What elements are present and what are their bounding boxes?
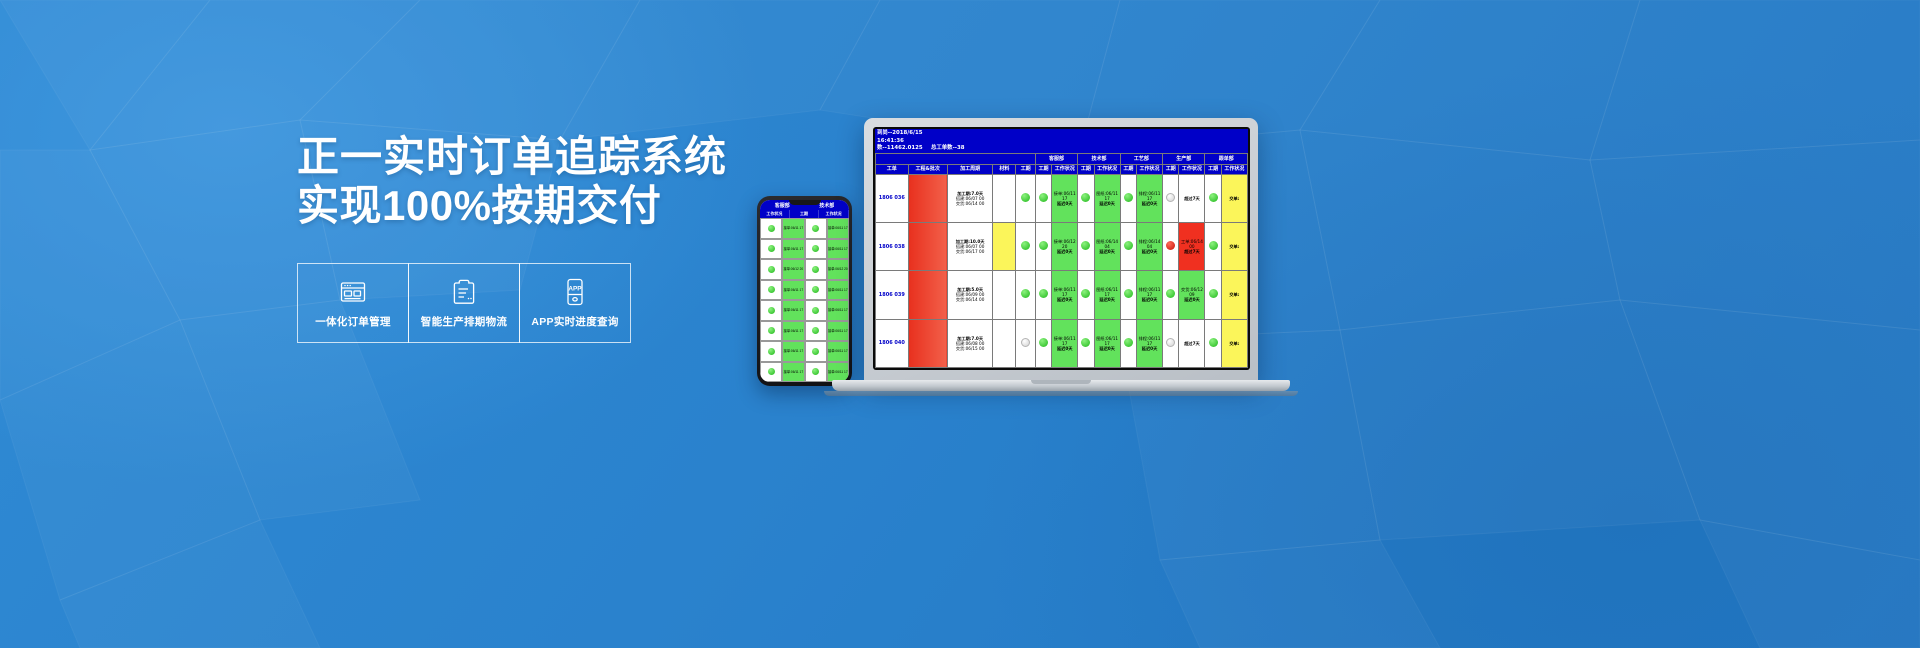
dashboard-status-bar: 到尚--2018/6/15 16:41:36 数--11462.0125 总工单… <box>875 129 1248 153</box>
phone-cell: 接单:06/11 17 <box>827 280 849 301</box>
cell-dept-duration-0 <box>1035 174 1051 222</box>
cell-order-number: 1806 039 <box>876 271 909 319</box>
cell-project <box>908 319 947 367</box>
cell-order-number: 1806 036 <box>876 174 909 222</box>
phone-subcol-1: 工期 <box>790 210 820 218</box>
cell-dept-duration-4 <box>1205 174 1221 222</box>
status-total-orders: 总工单数--38 <box>931 145 965 153</box>
cell-cycle: 加工期:7.0天搭建:06/08 00交货:06/15 00 <box>947 319 993 367</box>
cell-dept-status-2: 排程:06/11 17延迟0天 <box>1136 319 1162 367</box>
dept-header-spacer <box>876 153 1036 164</box>
status-timestamp: 到尚--2018/6/15 16:41:36 <box>877 130 931 145</box>
cell-dept-status-4: 交单: <box>1221 271 1247 319</box>
col-header-4-0: 工期 <box>1205 164 1221 174</box>
cell-dept-status-3: 工单:06/14 00超过7天 <box>1179 222 1205 270</box>
status-dot <box>1039 338 1048 347</box>
phone-screen[interactable]: 客服部 技术部 工作状况 工期 工作状况 接单:06/11 17接单:06/11… <box>760 200 849 382</box>
phone-cell: 接单:06/11 17 <box>782 218 804 239</box>
phone-subcol-2: 工作状况 <box>819 210 849 218</box>
cell-dept-duration-2 <box>1120 271 1136 319</box>
col-header-2: 加工周期 <box>947 164 993 174</box>
phone-cell <box>805 321 827 342</box>
status-dot <box>1081 241 1090 250</box>
phone-cell: 接单:06/11 17 <box>782 280 804 301</box>
dept-header-customer-service: 客服部 <box>1035 153 1077 164</box>
laptop-foot <box>824 391 1298 396</box>
phone-status-column <box>760 218 782 382</box>
cell-dept-status-3: 交货:06/12 09延迟0天 <box>1179 271 1205 319</box>
cell-dept-duration-4 <box>1205 319 1221 367</box>
mobile-app-icon: APP <box>565 277 585 307</box>
col-header-3-1: 工作状况 <box>1179 164 1205 174</box>
laptop-screen[interactable]: 到尚--2018/6/15 16:41:36 数--11462.0125 总工单… <box>875 129 1248 368</box>
dept-header-process: 工艺部 <box>1120 153 1162 164</box>
table-body: 1806 036加工期:7.0天搭建:06/07 00交货:06/14 00接单… <box>876 174 1248 368</box>
order-tracking-table: 客服部 技术部 工艺部 生产部 跟单部 工单工程&批次加工周期材料工期工期工作状… <box>875 153 1248 369</box>
cell-material <box>993 271 1016 319</box>
status-count: 数--11462.0125 <box>877 145 931 153</box>
status-dot <box>812 225 819 232</box>
phone-cell <box>760 362 782 383</box>
col-header-1-1: 工作状况 <box>1094 164 1120 174</box>
status-dot <box>768 368 775 375</box>
cell-dept-duration-0 <box>1035 319 1051 367</box>
cell-dept-duration-3 <box>1163 271 1179 319</box>
status-dot <box>768 327 775 334</box>
cell-dept-duration-0 <box>1035 222 1051 270</box>
column-header-row: 工单工程&批次加工周期材料工期工期工作状况工期工作状况工期工作状况工期工作状况工… <box>876 164 1248 174</box>
dashboard: 到尚--2018/6/15 16:41:36 数--11462.0125 总工单… <box>875 129 1248 368</box>
col-header-0-1: 工作状况 <box>1052 164 1078 174</box>
cell-dept-duration-1 <box>1078 222 1094 270</box>
cell-dept-status-0: 接单:06/11 17延迟0天 <box>1052 271 1078 319</box>
status-dot <box>1166 193 1175 202</box>
phone-cell: 接单:06/11 17 <box>827 341 849 362</box>
phone-cell <box>760 300 782 321</box>
svg-text:APP: APP <box>568 286 582 293</box>
status-dot <box>768 348 775 355</box>
status-dot <box>768 245 775 252</box>
feature-label: 一体化订单管理 <box>315 314 391 329</box>
status-dot <box>1166 241 1175 250</box>
cell-duration <box>1016 174 1036 222</box>
table-head: 客服部 技术部 工艺部 生产部 跟单部 工单工程&批次加工周期材料工期工期工作状… <box>876 153 1248 174</box>
phone-cell <box>805 341 827 362</box>
laptop-mockup: 到尚--2018/6/15 16:41:36 数--11462.0125 总工单… <box>864 118 1324 418</box>
cell-dept-duration-2 <box>1120 222 1136 270</box>
cell-dept-status-1: 图纸:06/11 17延迟0天 <box>1094 319 1120 367</box>
id-card-icon <box>340 277 366 307</box>
status-dot <box>1166 289 1175 298</box>
status-dot <box>1021 193 1030 202</box>
col-header-4: 工期 <box>1016 164 1036 174</box>
cell-dept-status-2: 排程:06/14 04延迟0天 <box>1136 222 1162 270</box>
phone-cell: 接单:06/11 17 <box>782 362 804 383</box>
phone-detail-column: 接单:06/11 17接单:06/11 17接单:06/12 20接单:06/1… <box>782 218 804 382</box>
status-dot <box>1124 289 1133 298</box>
cell-dept-duration-3 <box>1163 174 1179 222</box>
phone-cell <box>760 259 782 280</box>
status-dot <box>812 348 819 355</box>
phone-cell: 接单:06/11 17 <box>782 300 804 321</box>
status-dot <box>1039 241 1048 250</box>
cell-order-number: 1806 040 <box>876 319 909 367</box>
cell-dept-status-4: 交单: <box>1221 174 1247 222</box>
status-dot <box>812 245 819 252</box>
phone-cell <box>760 321 782 342</box>
phone-subcol-0: 工作状况 <box>760 210 790 218</box>
cell-dept-status-3: 超过7天 <box>1179 174 1205 222</box>
col-header-1: 工程&批次 <box>908 164 947 174</box>
phone-cell: 接单:06/11 17 <box>827 218 849 239</box>
feature-box-group: 一体化订单管理 智能生产排期物流 APP APP实时进度查询 <box>297 263 630 343</box>
cell-dept-duration-4 <box>1205 222 1221 270</box>
phone-cell <box>760 341 782 362</box>
phone-cell: 接单:06/11 17 <box>782 239 804 260</box>
phone-cell <box>760 280 782 301</box>
status-dot <box>768 286 775 293</box>
cell-dept-status-3: 超过7天 <box>1179 319 1205 367</box>
cell-dept-duration-2 <box>1120 174 1136 222</box>
clipboard-list-icon <box>452 277 476 307</box>
phone-cell: 接单:06/11 17 <box>827 300 849 321</box>
cell-material <box>993 174 1016 222</box>
dashboard-table-area: 客服部 技术部 工艺部 生产部 跟单部 工单工程&批次加工周期材料工期工期工作状… <box>875 153 1248 369</box>
col-header-4-1: 工作状况 <box>1221 164 1247 174</box>
phone-cell <box>805 239 827 260</box>
cell-dept-status-4: 交单: <box>1221 319 1247 367</box>
dept-header-row: 客服部 技术部 工艺部 生产部 跟单部 <box>876 153 1248 164</box>
table-row[interactable]: 1806 038加工期:10.0天搭建:06/07 00交货:06/17 00接… <box>876 222 1248 270</box>
status-dot <box>1124 338 1133 347</box>
status-dot <box>1124 193 1133 202</box>
feature-label: APP实时进度查询 <box>531 314 618 329</box>
status-dot <box>768 266 775 273</box>
phone-cell <box>805 218 827 239</box>
col-header-3-0: 工期 <box>1163 164 1179 174</box>
phone-cell: 接单:06/11 17 <box>827 239 849 260</box>
dept-header-production: 生产部 <box>1163 153 1205 164</box>
phone-cell: 接单:06/11 17 <box>827 362 849 383</box>
cell-dept-duration-4 <box>1205 271 1221 319</box>
status-dot <box>812 327 819 334</box>
phone-subheader: 工作状况 工期 工作状况 <box>760 210 849 218</box>
phone-cell: 接单:06/11 17 <box>827 321 849 342</box>
phone-status-column-2 <box>805 218 827 382</box>
status-dot <box>768 307 775 314</box>
phone-cell: 接单:06/11 17 <box>782 341 804 362</box>
cell-duration <box>1016 271 1036 319</box>
laptop-base <box>832 380 1290 391</box>
cell-dept-status-0: 接单:06/11 17延迟0天 <box>1052 174 1078 222</box>
phone-dashboard: 客服部 技术部 工作状况 工期 工作状况 接单:06/11 17接单:06/11… <box>760 200 849 382</box>
phone-cell: 接单:06/11 17 <box>782 321 804 342</box>
phone-mockup: 客服部 技术部 工作状况 工期 工作状况 接单:06/11 17接单:06/11… <box>757 196 852 386</box>
cell-dept-status-1: 图纸:06/11 17延迟0天 <box>1094 174 1120 222</box>
cell-dept-duration-3 <box>1163 222 1179 270</box>
headline-line-1: 正一实时订单追踪系统 <box>297 132 717 181</box>
cell-cycle: 加工期:7.0天搭建:06/07 00交货:06/14 00 <box>947 174 993 222</box>
col-header-0-0: 工期 <box>1035 164 1051 174</box>
feature-box-order-management[interactable]: 一体化订单管理 <box>297 263 409 343</box>
cell-dept-status-4: 交单: <box>1221 222 1247 270</box>
phone-cell <box>805 259 827 280</box>
status-dot <box>812 286 819 293</box>
phone-cell <box>805 362 827 383</box>
cell-dept-duration-1 <box>1078 174 1094 222</box>
cell-cycle: 加工期:10.0天搭建:06/07 00交货:06/17 00 <box>947 222 993 270</box>
status-dot <box>1021 338 1030 347</box>
dept-header-followup: 跟单部 <box>1205 153 1248 164</box>
cell-material <box>993 319 1016 367</box>
laptop-bezel: 到尚--2018/6/15 16:41:36 数--11462.0125 总工单… <box>873 127 1250 370</box>
phone-cell <box>805 280 827 301</box>
cell-duration <box>1016 222 1036 270</box>
col-header-3: 材料 <box>993 164 1016 174</box>
phone-row-area: 接单:06/11 17接单:06/11 17接单:06/12 20接单:06/1… <box>760 218 849 382</box>
phone-cell <box>760 218 782 239</box>
phone-cell <box>760 239 782 260</box>
cell-dept-status-0: 接单:06/12 20延迟0天 <box>1052 222 1078 270</box>
table-row[interactable]: 1806 040加工期:7.0天搭建:06/08 00交货:06/15 00接单… <box>876 319 1248 367</box>
col-header-2-1: 工作状况 <box>1136 164 1162 174</box>
status-dot <box>812 307 819 314</box>
table-row[interactable]: 1806 039加工期:5.0天搭建:06/09 00交货:06/14 00接单… <box>876 271 1248 319</box>
cell-order-number: 1806 038 <box>876 222 909 270</box>
cell-duration <box>1016 319 1036 367</box>
cell-dept-status-2: 排程:06/11 17延迟0天 <box>1136 271 1162 319</box>
hero-copy: 正一实时订单追踪系统 实现100%按期交付 <box>297 132 717 230</box>
status-dot <box>1209 289 1218 298</box>
phone-cell <box>805 300 827 321</box>
cell-dept-duration-0 <box>1035 271 1051 319</box>
phone-cell: 接单:06/12 20 <box>827 259 849 280</box>
col-header-0: 工单 <box>876 164 909 174</box>
cell-dept-status-1: 图纸:06/11 17延迟0天 <box>1094 271 1120 319</box>
feature-label: 智能生产排期物流 <box>421 314 507 329</box>
status-dot <box>1081 193 1090 202</box>
phone-body: 客服部 技术部 工作状况 工期 工作状况 接单:06/11 17接单:06/11… <box>757 196 852 386</box>
status-dot <box>1166 338 1175 347</box>
headline-line-2: 实现100%按期交付 <box>297 181 717 230</box>
dept-header-technical: 技术部 <box>1078 153 1120 164</box>
feature-box-app-tracking[interactable]: APP APP实时进度查询 <box>519 263 631 343</box>
status-dot <box>1021 289 1030 298</box>
status-dot <box>812 266 819 273</box>
phone-detail-column-2: 接单:06/11 17接单:06/11 17接单:06/12 20接单:06/1… <box>827 218 849 382</box>
cell-dept-duration-3 <box>1163 319 1179 367</box>
cell-project <box>908 271 947 319</box>
status-dot <box>812 368 819 375</box>
status-dot <box>1209 193 1218 202</box>
status-dot <box>1209 338 1218 347</box>
status-dot <box>1209 241 1218 250</box>
cell-dept-duration-1 <box>1078 271 1094 319</box>
cell-dept-status-1: 图纸:06/14 04延迟0天 <box>1094 222 1120 270</box>
cell-dept-duration-2 <box>1120 319 1136 367</box>
laptop-lid: 到尚--2018/6/15 16:41:36 数--11462.0125 总工单… <box>864 118 1258 382</box>
cell-material <box>993 222 1016 270</box>
table-row[interactable]: 1806 036加工期:7.0天搭建:06/07 00交货:06/14 00接单… <box>876 174 1248 222</box>
status-dot <box>1039 289 1048 298</box>
cell-dept-status-0: 接单:06/11 17延迟0天 <box>1052 319 1078 367</box>
phone-cell: 接单:06/12 20 <box>782 259 804 280</box>
status-dot <box>1081 289 1090 298</box>
status-dot <box>1124 241 1133 250</box>
col-header-1-0: 工期 <box>1078 164 1094 174</box>
status-dot <box>768 225 775 232</box>
cell-cycle: 加工期:5.0天搭建:06/09 00交货:06/14 00 <box>947 271 993 319</box>
cell-dept-status-2: 排程:06/11 17延迟0天 <box>1136 174 1162 222</box>
status-dot <box>1081 338 1090 347</box>
phone-notch <box>789 200 821 205</box>
cell-dept-duration-1 <box>1078 319 1094 367</box>
col-header-2-0: 工期 <box>1120 164 1136 174</box>
cell-project <box>908 222 947 270</box>
feature-box-production-logistics[interactable]: 智能生产排期物流 <box>408 263 520 343</box>
status-dot <box>1039 193 1048 202</box>
status-dot <box>1021 241 1030 250</box>
cell-project <box>908 174 947 222</box>
